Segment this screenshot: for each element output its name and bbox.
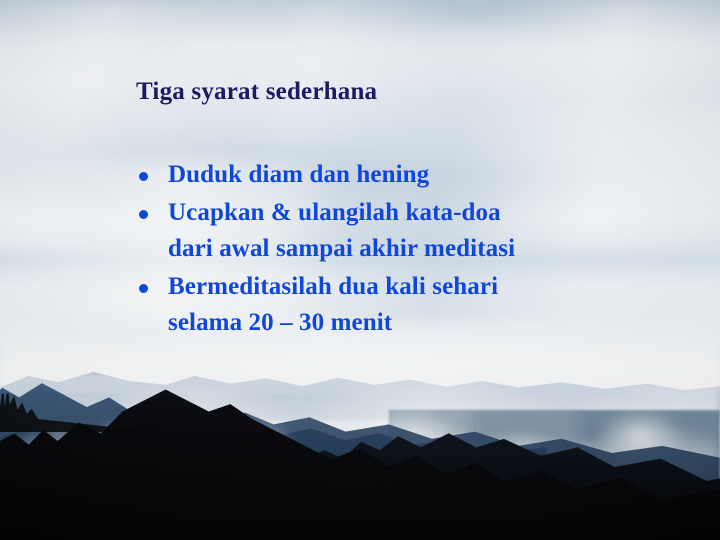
presentation-slide: Tiga syarat sederhana Duduk diam dan hen… — [0, 0, 720, 540]
bullet-line-1: Duduk diam dan hening — [168, 161, 429, 188]
bullet-line-1: Bermeditasilah dua kali sehari — [168, 273, 498, 300]
bullet-dot-icon — [139, 210, 148, 219]
bullet-dot-icon — [139, 172, 148, 181]
bullet-line-1: Ucapkan & ulangilah kata-doa — [168, 199, 501, 226]
bullet-line-2: dari awal sampai akhir meditasi — [168, 231, 694, 267]
bullet-line-2: selama 20 – 30 menit — [168, 305, 694, 341]
bullet-list: Duduk diam dan hening Ucapkan & ulangila… — [134, 157, 694, 343]
list-item: Ucapkan & ulangilah kata-doa dari awal s… — [134, 195, 694, 267]
list-item: Duduk diam dan hening — [134, 157, 694, 193]
slide-text-layer: Tiga syarat sederhana Duduk diam dan hen… — [0, 0, 720, 540]
bullet-dot-icon — [139, 284, 148, 293]
slide-title: Tiga syarat sederhana — [136, 78, 377, 106]
list-item: Bermeditasilah dua kali sehari selama 20… — [134, 269, 694, 341]
